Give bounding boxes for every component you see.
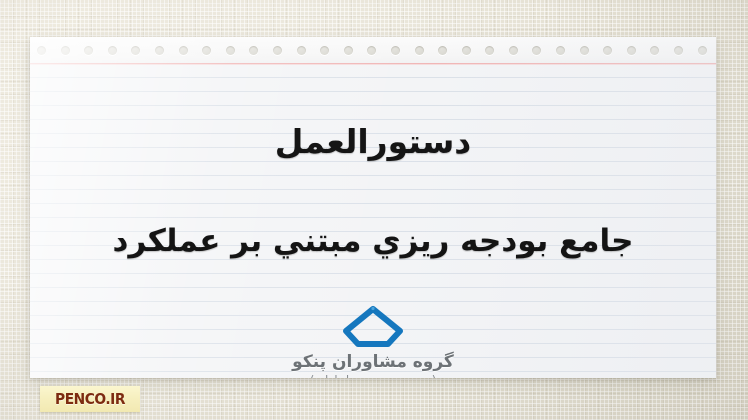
watermark-label: PENCO.IR [55, 390, 125, 408]
brand-name: گروه مشاوران پنکو [30, 352, 716, 373]
brand-logo-block: گروه مشاوران پنکو ( پرتو نوین مدیریت ایر… [30, 305, 716, 378]
slide-canvas: دستورالعمل جامع بودجه ریزي مبتني بر عملک… [0, 0, 748, 420]
penco-pentagon-logo-icon [341, 305, 405, 349]
slide-content: دستورالعمل جامع بودجه ریزي مبتني بر عملک… [30, 37, 716, 378]
slide-title: دستورالعمل [30, 122, 716, 161]
slide-subtitle: جامع بودجه ریزي مبتني بر عملکرد [30, 223, 716, 259]
brand-subname: ( پرتو نوین مدیریت ایرانیان ) [30, 374, 716, 378]
watermark-badge: PENCO.IR [40, 386, 140, 412]
notebook-paper: دستورالعمل جامع بودجه ریزي مبتني بر عملک… [30, 37, 716, 378]
